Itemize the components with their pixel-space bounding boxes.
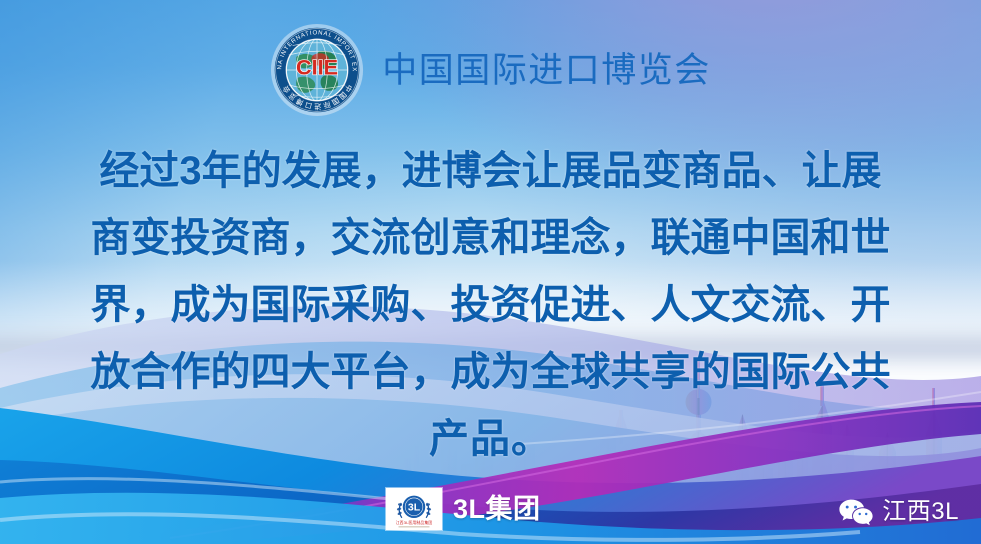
wechat-badge[interactable]: 江西3L	[839, 498, 959, 526]
poster-canvas: CIIE CHINA INTERNATIONAL IMPORT EXPO 中国国…	[0, 0, 981, 544]
quote-line-4: 放合作的四大平台，成为全球共享的国际公共	[50, 339, 931, 406]
brand-3l-group: 3L 江西3L医用制品集团 3L集团	[386, 488, 541, 530]
3l-group-logo-box: 3L 江西3L医用制品集团	[386, 488, 442, 530]
brand-3l-label: 3L集团	[453, 496, 541, 523]
ciie-monogram-text: CIIE	[296, 55, 338, 80]
ciie-globe-logo-icon: CIIE CHINA INTERNATIONAL IMPORT EXPO 中国国…	[270, 23, 364, 117]
3l-monogram-text: 3L	[408, 502, 421, 514]
quote-line-1: 经过3年的发展，进博会让展品变商品、让展	[50, 138, 931, 205]
3l-logo-caption-cn: 江西3L医用制品集团	[396, 520, 433, 525]
wechat-icon	[839, 498, 873, 526]
quote-line-5: 产品。	[50, 406, 931, 473]
poster-header: CIIE CHINA INTERNATIONAL IMPORT EXPO 中国国…	[0, 22, 981, 118]
quote-line-3: 界，成为国际采购、投资促进、人文交流、开	[50, 272, 931, 339]
main-quote-block: 经过3年的发展，进博会让展品变商品、让展 商变投资商，交流创意和理念，联通中国和…	[50, 138, 931, 473]
3l-group-logo-icon: 3L 江西3L医用制品集团	[386, 488, 442, 530]
page-title: 中国国际进口博览会	[382, 53, 711, 88]
quote-line-2: 商变投资商，交流创意和理念，联通中国和世	[50, 205, 931, 272]
wechat-account-name: 江西3L	[882, 500, 959, 524]
